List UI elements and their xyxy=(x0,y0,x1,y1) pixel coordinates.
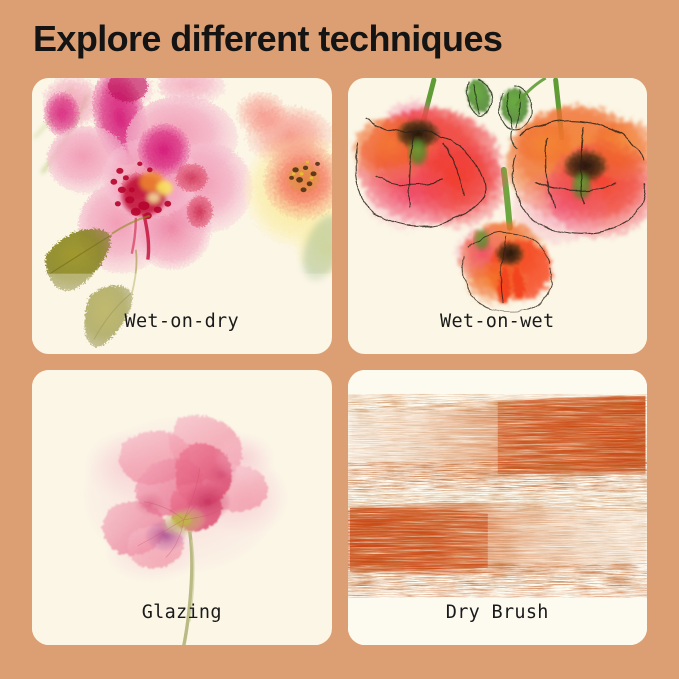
technique-card-wet-on-dry[interactable]: Wet-on-dry xyxy=(32,78,332,354)
card-label-dry-brush: Dry Brush xyxy=(348,602,648,623)
card-label-wet-on-dry: Wet-on-dry xyxy=(32,311,332,332)
card-label-wet-on-wet: Wet-on-wet xyxy=(348,311,648,332)
technique-card-wet-on-wet[interactable]: Wet-on-wet xyxy=(348,78,648,354)
technique-card-glazing[interactable]: Glazing xyxy=(32,370,332,646)
card-label-glazing: Glazing xyxy=(32,602,332,623)
technique-card-dry-brush[interactable]: Dry Brush xyxy=(348,370,648,646)
page-title: Explore different techniques xyxy=(33,17,502,61)
technique-card-grid: Wet-on-dry xyxy=(32,78,647,645)
poster-root: Explore different techniques xyxy=(0,0,679,679)
